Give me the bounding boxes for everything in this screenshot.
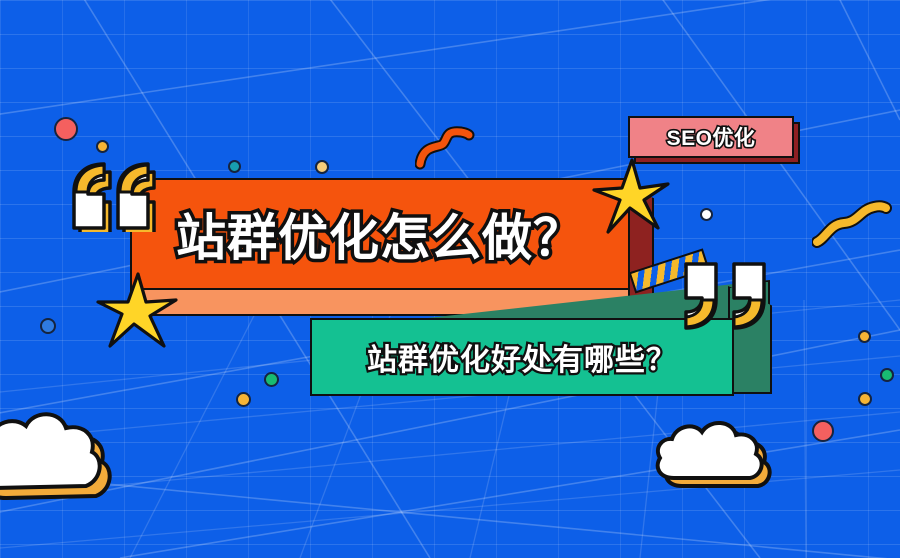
dot-orange-right [858, 330, 871, 343]
cloud-bottom-left [0, 392, 128, 512]
quote-open-icon [64, 152, 164, 232]
dot-green-far-right [880, 368, 894, 382]
dot-red-bottom-right [812, 420, 834, 442]
dot-orange-mid [236, 392, 251, 407]
sub-banner-front-face: 站群优化好处有哪些？ [310, 318, 734, 396]
star-top-right-icon [592, 158, 670, 236]
main-banner-title: 站群优化怎么做？ [176, 198, 584, 270]
dot-teal-top [228, 160, 241, 173]
squiggle-orange [415, 122, 475, 172]
sub-banner-title: 站群优化好处有哪些？ [367, 335, 677, 379]
dot-orange-far-right [858, 392, 872, 406]
cloud-bottom-right [650, 408, 780, 498]
seo-badge-face: SEO优化 [628, 116, 794, 158]
main-banner-front-face: 站群优化怎么做？ [130, 178, 630, 290]
dot-green-mid [264, 372, 279, 387]
dot-white-right [700, 208, 713, 221]
quote-close-icon [676, 258, 776, 338]
poster-canvas: SEO优化 站群优化怎么做？ [0, 0, 900, 558]
seo-badge[interactable]: SEO优化 [628, 116, 800, 164]
seo-badge-label: SEO优化 [667, 122, 756, 152]
star-left-icon [96, 272, 178, 350]
dot-yellow-top [315, 160, 329, 174]
dot-red-upper-left [54, 117, 78, 141]
dot-blue-left [40, 318, 56, 334]
squiggle-yellow [812, 196, 894, 256]
